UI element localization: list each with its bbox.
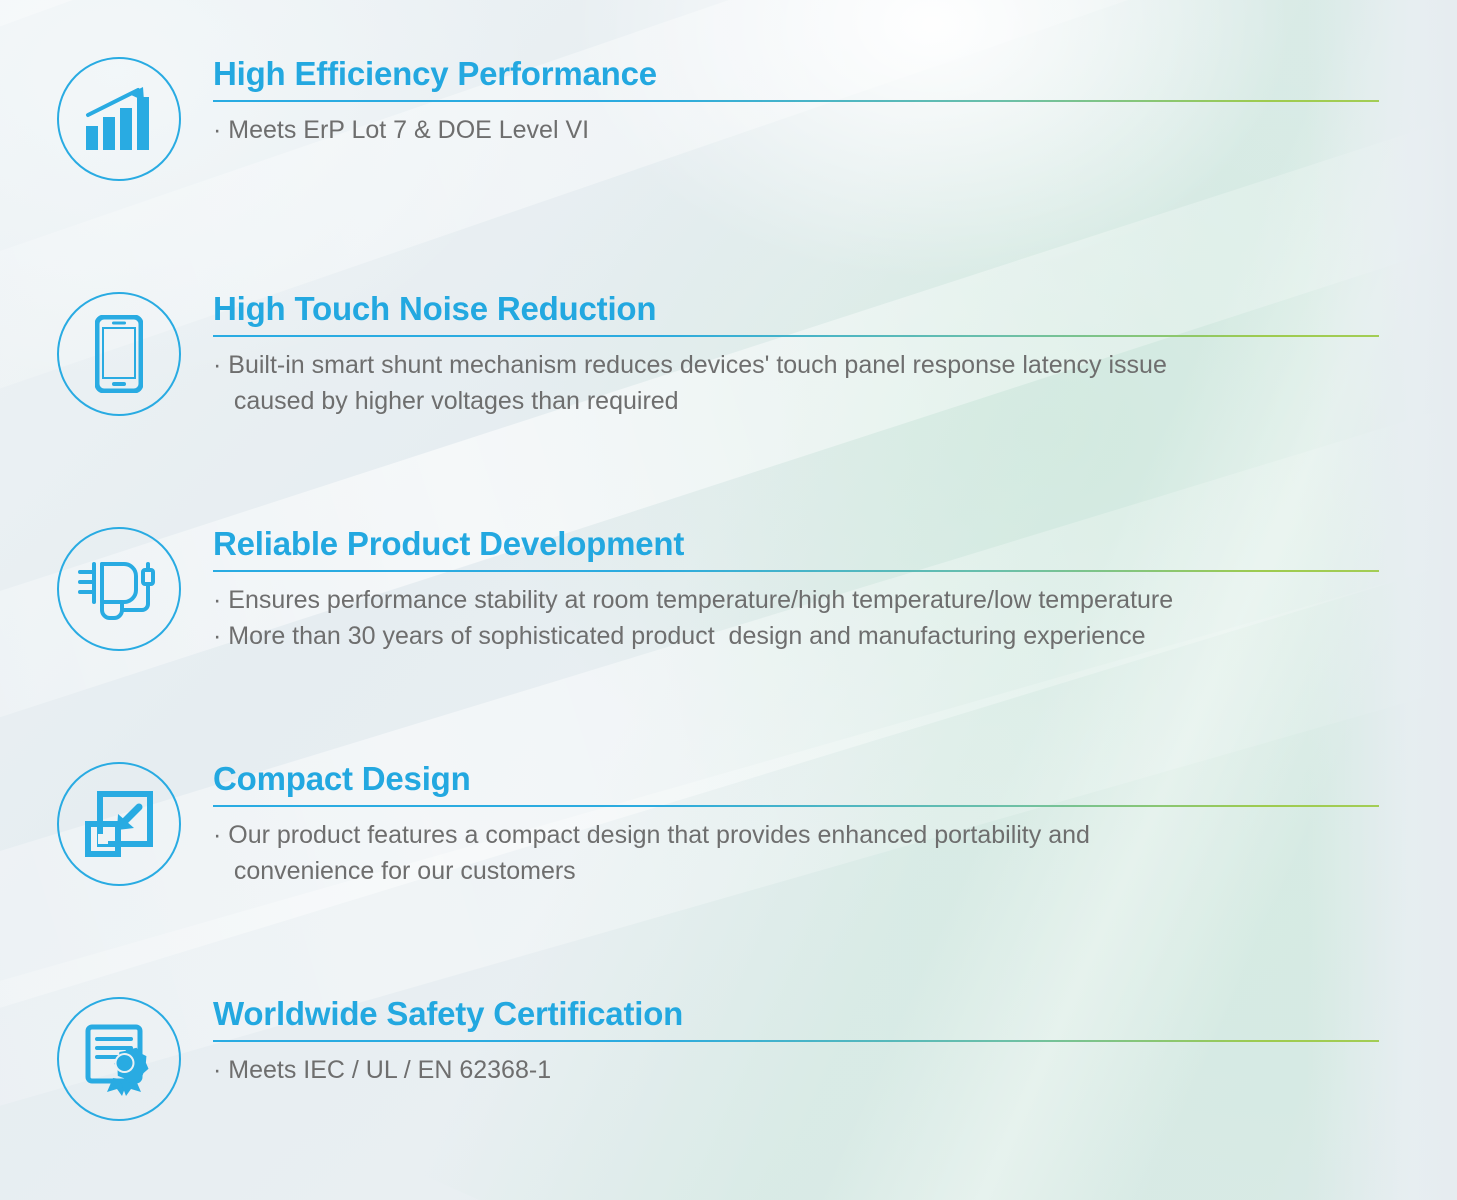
feature-title: Compact Design <box>213 762 1379 795</box>
feature-title: High Touch Noise Reduction <box>213 292 1379 325</box>
feature-text-column: High Efficiency Performance · Meets ErP … <box>213 57 1379 149</box>
feature-bullets: · Meets IEC / UL / EN 62368-1 <box>213 1053 1379 1089</box>
feature-bullet: · Built-in smart shunt mechanism reduces… <box>213 348 1379 419</box>
feature-bullet: · Our product features a compact design … <box>213 818 1379 889</box>
feature-bullet: · More than 30 years of sophisticated pr… <box>213 619 1379 655</box>
feature-text-column: Worldwide Safety Certification · Meets I… <box>213 997 1379 1089</box>
feature-title: Reliable Product Development <box>213 527 1379 560</box>
feature-divider <box>213 335 1379 337</box>
feature-bullets: · Our product features a compact design … <box>213 818 1379 889</box>
feature-icon-wrapper <box>57 997 181 1121</box>
feature-bullets: · Built-in smart shunt mechanism reduces… <box>213 348 1379 419</box>
feature-text-column: Compact Design · Our product features a … <box>213 762 1379 889</box>
feature-title: High Efficiency Performance <box>213 57 1379 90</box>
feature-divider <box>213 100 1379 102</box>
compact-resize-icon <box>57 762 181 886</box>
feature-bullets: · Meets ErP Lot 7 & DOE Level VI <box>213 113 1379 149</box>
feature-bullet: · Meets IEC / UL / EN 62368-1 <box>213 1053 1379 1089</box>
certificate-seal-icon <box>57 997 181 1121</box>
feature-text-column: High Touch Noise Reduction · Built-in sm… <box>213 292 1379 419</box>
feature-icon-wrapper <box>57 527 181 651</box>
feature-divider <box>213 1040 1379 1042</box>
feature-highlights-page: High Efficiency Performance · Meets ErP … <box>0 0 1457 1200</box>
feature-icon-wrapper <box>57 762 181 886</box>
feature-icon-wrapper <box>57 57 181 181</box>
feature-icon-wrapper <box>57 292 181 416</box>
feature-divider <box>213 805 1379 807</box>
feature-bullets: · Ensures performance stability at room … <box>213 583 1379 654</box>
feature-title: Worldwide Safety Certification <box>213 997 1379 1030</box>
feature-divider <box>213 570 1379 572</box>
feature-bullet: · Meets ErP Lot 7 & DOE Level VI <box>213 113 1379 149</box>
feature-bullet: · Ensures performance stability at room … <box>213 583 1379 619</box>
smartphone-icon <box>57 292 181 416</box>
bar-chart-growth-icon <box>57 57 181 181</box>
feature-text-column: Reliable Product Development · Ensures p… <box>213 527 1379 654</box>
power-adapter-icon <box>57 527 181 651</box>
